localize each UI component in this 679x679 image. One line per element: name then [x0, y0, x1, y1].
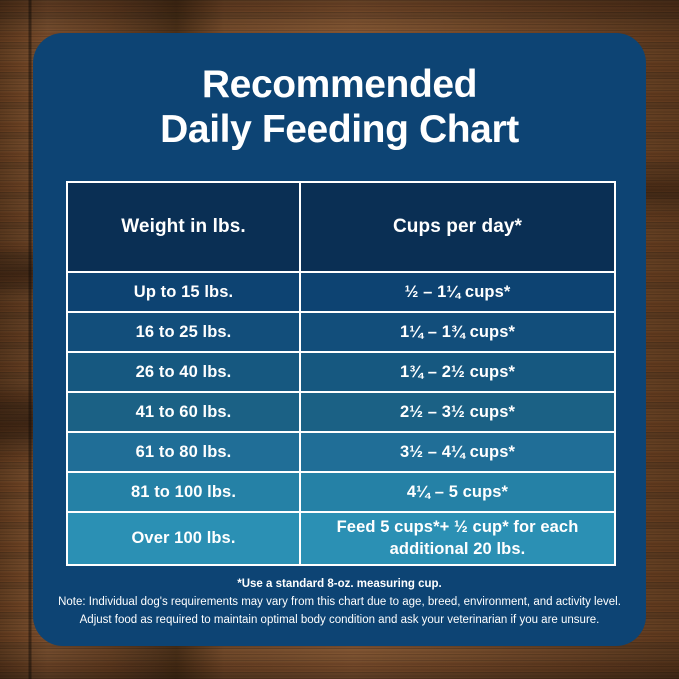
table-row: Up to 15 lbs. ½ – 1¼ cups* [67, 272, 615, 312]
feeding-chart-card: Recommended Daily Feeding Chart Weight i… [33, 33, 646, 646]
table-row: Over 100 lbs. Feed 5 cups*+ ½ cup* for e… [67, 512, 615, 565]
table-row: 81 to 100 lbs. 4¼ – 5 cups* [67, 472, 615, 512]
cell-cups: 3½ – 4¼ cups* [300, 432, 615, 472]
cell-cups: 2½ – 3½ cups* [300, 392, 615, 432]
table-row: 61 to 80 lbs. 3½ – 4¼ cups* [67, 432, 615, 472]
cell-cups: 1¼ – 1¾ cups* [300, 312, 615, 352]
page-title: Recommended Daily Feeding Chart [33, 33, 646, 153]
table-row: 41 to 60 lbs. 2½ – 3½ cups* [67, 392, 615, 432]
cell-weight: 16 to 25 lbs. [67, 312, 300, 352]
table-header: Weight in lbs. Cups per day* [67, 182, 615, 272]
column-header-weight: Weight in lbs. [67, 182, 300, 272]
table-body: Up to 15 lbs. ½ – 1¼ cups* 16 to 25 lbs.… [67, 272, 615, 565]
cell-cups: ½ – 1¼ cups* [300, 272, 615, 312]
cell-cups: Feed 5 cups*+ ½ cup* for each additional… [300, 512, 615, 565]
cell-weight: 61 to 80 lbs. [67, 432, 300, 472]
footnote-measuring-cup: *Use a standard 8-oz. measuring cup. [55, 576, 624, 594]
cell-cups: 1¾ – 2½ cups* [300, 352, 615, 392]
cell-weight: 26 to 40 lbs. [67, 352, 300, 392]
table-header-row: Weight in lbs. Cups per day* [67, 182, 615, 272]
cell-weight: 41 to 60 lbs. [67, 392, 300, 432]
cell-weight: Over 100 lbs. [67, 512, 300, 565]
footnote-note-line-1: Note: Individual dog's requirements may … [55, 594, 624, 612]
cell-weight: Up to 15 lbs. [67, 272, 300, 312]
page-title-line-1: Recommended [73, 63, 606, 108]
column-header-cups: Cups per day* [300, 182, 615, 272]
footnote-note-line-2: Adjust food as required to maintain opti… [55, 612, 624, 630]
table-row: 26 to 40 lbs. 1¾ – 2½ cups* [67, 352, 615, 392]
footnotes: *Use a standard 8-oz. measuring cup. Not… [55, 576, 624, 629]
page-title-line-2: Daily Feeding Chart [73, 108, 606, 153]
feeding-table: Weight in lbs. Cups per day* Up to 15 lb… [66, 181, 616, 566]
cell-cups: 4¼ – 5 cups* [300, 472, 615, 512]
table-row: 16 to 25 lbs. 1¼ – 1¾ cups* [67, 312, 615, 352]
cell-weight: 81 to 100 lbs. [67, 472, 300, 512]
